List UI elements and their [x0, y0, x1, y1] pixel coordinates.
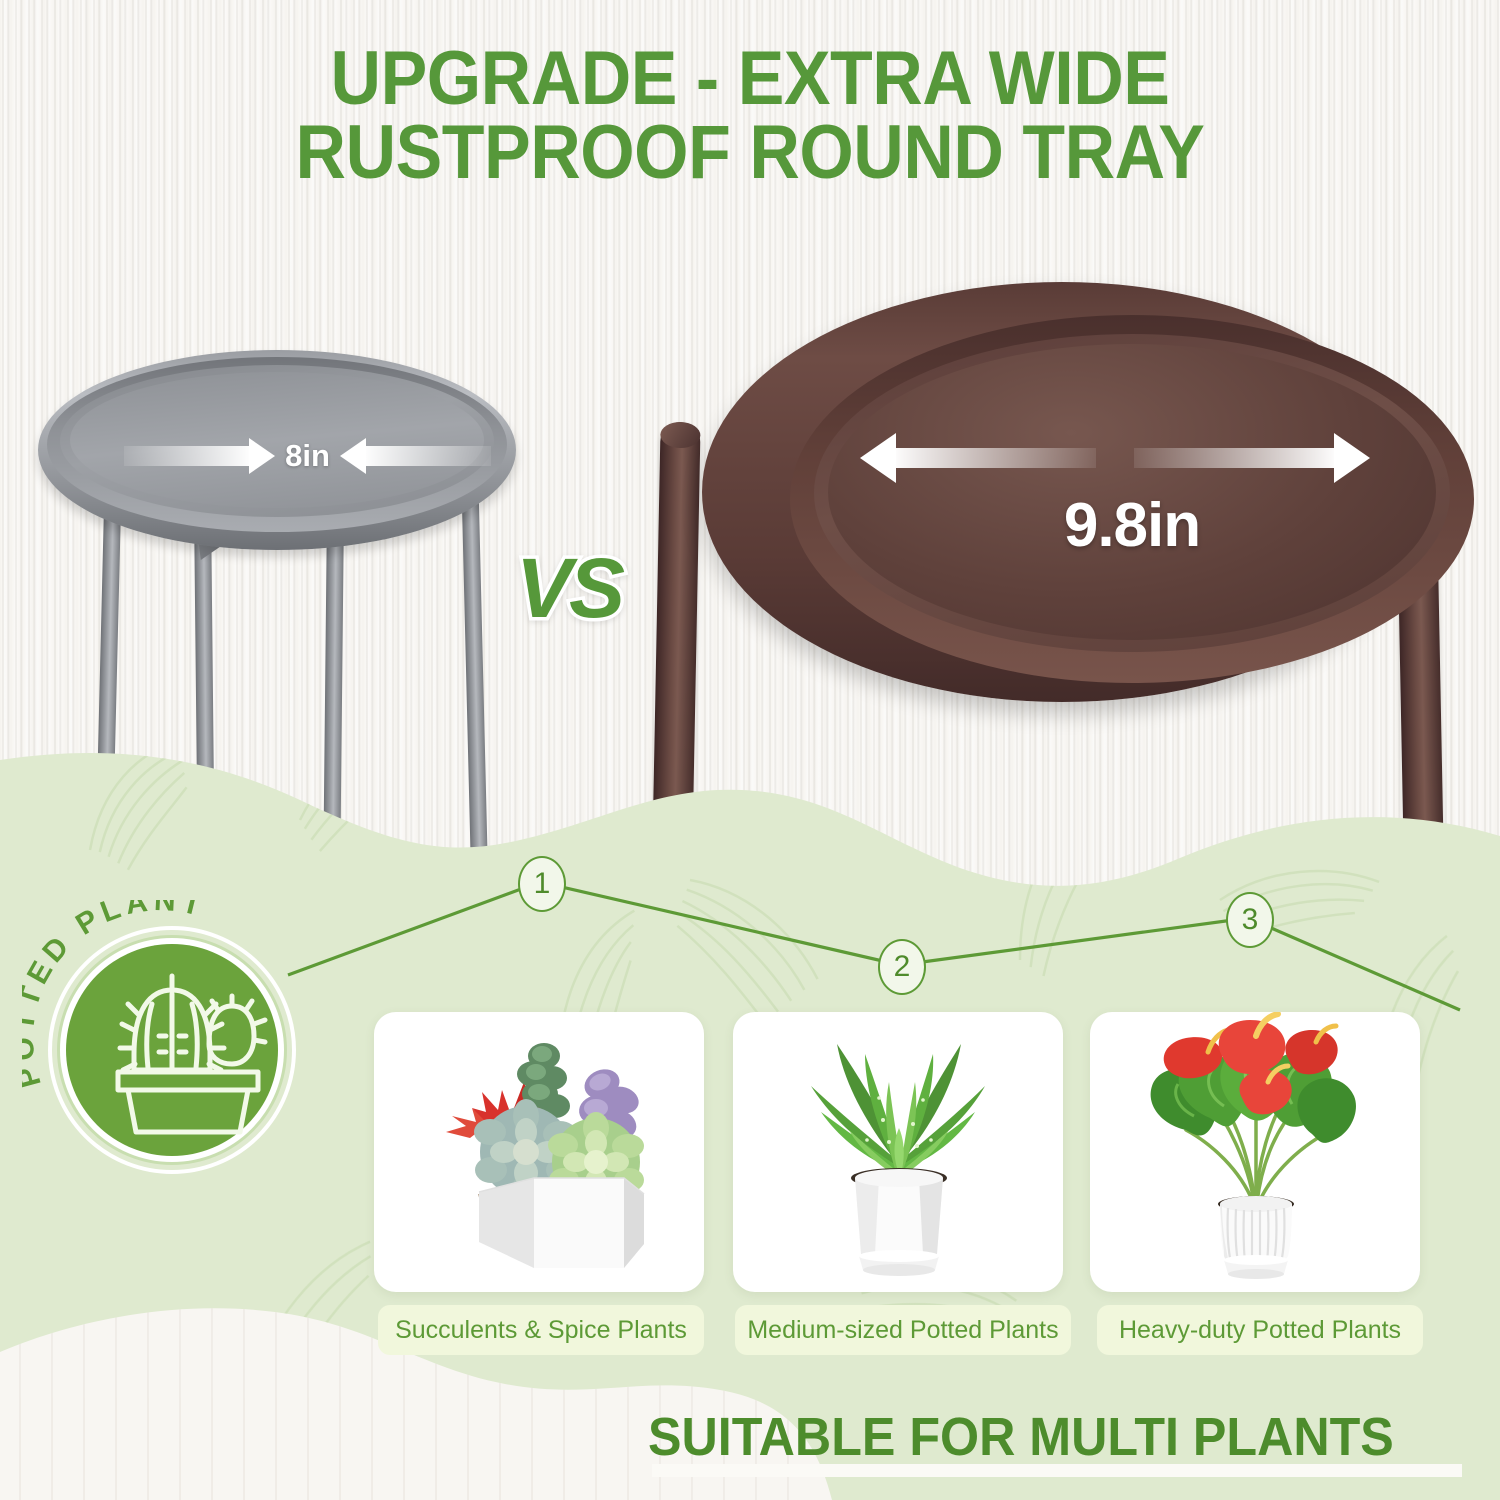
- aloe-round-white-pot-image: [733, 1012, 1063, 1292]
- plant-card-succulents[interactable]: [374, 1012, 704, 1292]
- plant-card-heavy-duty-plants[interactable]: [1090, 1012, 1420, 1292]
- connector-marker-3: 3: [1226, 892, 1274, 948]
- card-label-3: Heavy-duty Potted Plants: [1097, 1305, 1423, 1355]
- connector-marker-2: 2: [878, 939, 926, 995]
- card-label-2: Medium-sized Potted Plants: [735, 1305, 1071, 1355]
- succulents-hexagon-pot-image: [374, 1012, 704, 1292]
- footer-headline: SUITABLE FOR MULTI PLANTS: [648, 1406, 1394, 1468]
- plant-card-medium-plants[interactable]: [733, 1012, 1063, 1292]
- anthurium-ribbed-white-pot-image: [1090, 1012, 1420, 1292]
- product-infographic: UPGRADE - EXTRA WIDERUSTPROOF ROUND TRAY…: [0, 0, 1500, 1500]
- connector-marker-1: 1: [518, 856, 566, 912]
- card-label-1: Succulents & Spice Plants: [378, 1305, 704, 1355]
- cactus-in-pot-icon: [66, 944, 278, 1156]
- potted-plant-badge: POTTED PLANT: [22, 900, 322, 1200]
